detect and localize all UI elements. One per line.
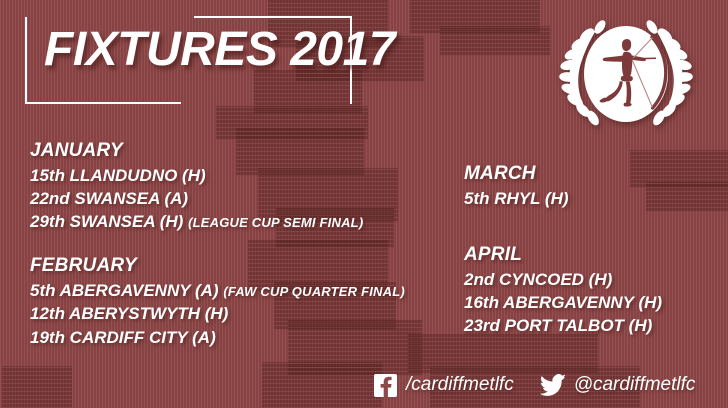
twitter-handle[interactable]: @cardiffmetlfc	[574, 374, 696, 396]
frame-line-left	[25, 17, 27, 104]
frame-line-top	[194, 16, 352, 18]
month-heading: JANUARY	[30, 140, 450, 162]
month-block: FEBRUARY 5th ABERGAVENNY (A) (FAW CUP QU…	[30, 255, 450, 348]
facebook-icon[interactable]	[374, 374, 397, 397]
twitter-icon[interactable]	[540, 374, 565, 396]
fixture-text: 22nd SWANSEA (A)	[30, 189, 188, 208]
social-link-facebook[interactable]: /cardiffmetlfc	[374, 374, 514, 397]
fixture-text: 5th ABERGAVENNY (A)	[30, 281, 219, 300]
fixture-row: 5th RHYL (H)	[464, 187, 724, 210]
fixtures-column-right: MARCH 5th RHYL (H) APRIL 2nd CYNCOED (H)…	[464, 163, 724, 337]
fixture-row: 29th SWANSEA (H) (LEAGUE CUP SEMI FINAL)	[30, 210, 450, 233]
month-block: JANUARY 15th LLANDUDNO (H) 22nd SWANSEA …	[30, 140, 450, 233]
fixtures-column-left: JANUARY 15th LLANDUDNO (H) 22nd SWANSEA …	[30, 140, 450, 349]
fixture-text: 2nd CYNCOED (H)	[464, 270, 612, 289]
fixture-text: 16th ABERGAVENNY (H)	[464, 293, 662, 312]
fixture-row: 12th ABERYSTWYTH (H)	[30, 302, 450, 325]
fixture-text: 12th ABERYSTWYTH (H)	[30, 304, 228, 323]
month-heading: MARCH	[464, 163, 724, 185]
month-heading: FEBRUARY	[30, 255, 450, 277]
page-title: FIXTURES 2017	[44, 22, 395, 77]
social-link-twitter[interactable]: @cardiffmetlfc	[540, 374, 696, 396]
fixture-row: 2nd CYNCOED (H)	[464, 268, 724, 291]
fixture-text: 23rd PORT TALBOT (H)	[464, 316, 652, 335]
fixture-row: 23rd PORT TALBOT (H)	[464, 314, 724, 337]
fixture-text: 15th LLANDUDNO (H)	[30, 166, 206, 185]
month-block: APRIL 2nd CYNCOED (H) 16th ABERGAVENNY (…	[464, 244, 724, 337]
facebook-handle[interactable]: /cardiffmetlfc	[406, 374, 514, 396]
fixture-row: 22nd SWANSEA (A)	[30, 187, 450, 210]
background-shape	[440, 26, 550, 56]
fixture-row: 16th ABERGAVENNY (H)	[464, 291, 724, 314]
fixture-note: (LEAGUE CUP SEMI FINAL)	[188, 215, 363, 230]
fixtures-poster: FIXTURES 2017	[0, 0, 728, 408]
month-heading: APRIL	[464, 244, 724, 266]
archer-laurel-crest-icon	[556, 12, 696, 140]
social-bar: /cardiffmetlfc @cardiffmetlfc	[374, 372, 695, 398]
fixture-row: 19th CARDIFF CITY (A)	[30, 326, 450, 349]
fixture-text: 19th CARDIFF CITY (A)	[30, 328, 216, 347]
fixture-note: (FAW CUP QUARTER FINAL)	[223, 284, 405, 299]
frame-line-bottom	[25, 102, 181, 104]
month-block: MARCH 5th RHYL (H)	[464, 163, 724, 210]
fixture-row: 15th LLANDUDNO (H)	[30, 164, 450, 187]
background-shape	[2, 366, 72, 408]
fixture-text: 29th SWANSEA (H)	[30, 212, 183, 231]
fixture-row: 5th ABERGAVENNY (A) (FAW CUP QUARTER FIN…	[30, 279, 450, 302]
background-shape	[262, 362, 382, 408]
fixture-text: 5th RHYL (H)	[464, 189, 569, 208]
